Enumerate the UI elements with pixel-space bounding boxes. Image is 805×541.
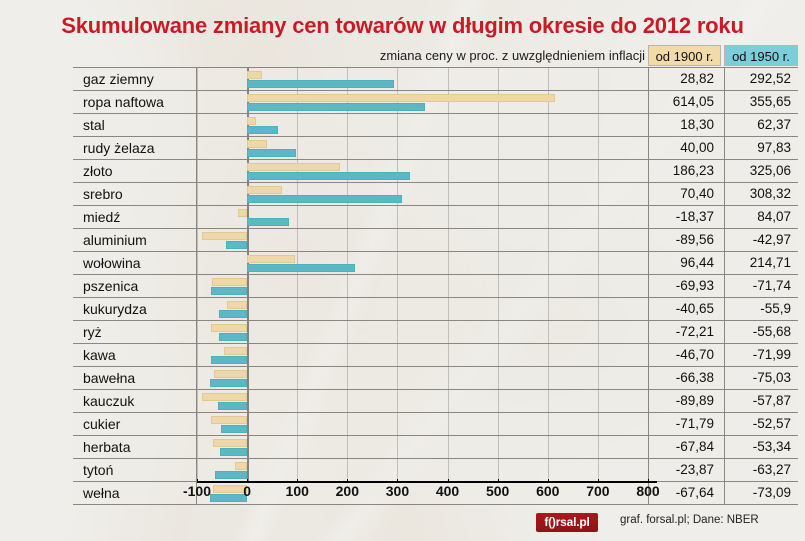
value-1950: 292,52: [724, 68, 798, 91]
value-1900: -66,38: [648, 367, 721, 390]
x-axis-ticks: -1000100200300400500600700800: [0, 483, 805, 505]
bar-1950: [210, 379, 248, 387]
bar-1900: [247, 140, 267, 148]
bar-1900: [211, 324, 247, 332]
row-plot-area: [197, 206, 648, 229]
row-plot-area: [197, 344, 648, 367]
value-1950: -55,68: [724, 321, 798, 344]
table-row: kukurydza-40,65-55,9: [73, 298, 798, 321]
value-1950: -42,97: [724, 229, 798, 252]
value-1950: -71,99: [724, 344, 798, 367]
bar-1950: [247, 172, 410, 180]
chart-root: Skumulowane zmiany cen towarów w długim …: [0, 0, 805, 541]
bar-1900: [202, 393, 247, 401]
bar-1950: [226, 241, 248, 249]
commodity-label: kawa: [73, 344, 197, 367]
bar-1950: [215, 471, 247, 479]
bar-1900: [247, 117, 256, 125]
commodity-label: tytoń: [73, 459, 197, 482]
table-row: srebro70,40308,32: [73, 183, 798, 206]
bar-1900: [247, 255, 295, 263]
value-1950: -57,87: [724, 390, 798, 413]
commodity-label: ryż: [73, 321, 197, 344]
bar-1950: [247, 218, 289, 226]
commodity-label: aluminium: [73, 229, 197, 252]
bar-1950: [211, 287, 247, 295]
value-1900: 28,82: [648, 68, 721, 91]
commodity-label: ropa naftowa: [73, 91, 197, 114]
commodity-label: stal: [73, 114, 197, 137]
table-row: tytoń-23,87-63,27: [73, 459, 798, 482]
bar-1900: [213, 439, 247, 447]
value-1950: 62,37: [724, 114, 798, 137]
value-1900: 186,23: [648, 160, 721, 183]
value-1950: 84,07: [724, 206, 798, 229]
row-plot-area: [197, 160, 648, 183]
table-row: ropa naftowa614,05355,65: [73, 91, 798, 114]
value-1900: 614,05: [648, 91, 721, 114]
value-1950: 355,65: [724, 91, 798, 114]
column-header-1900: od 1900 r.: [648, 45, 721, 66]
chart-title: Skumulowane zmiany cen towarów w długim …: [0, 13, 805, 39]
bar-1900: [247, 94, 555, 102]
value-1950: -63,27: [724, 459, 798, 482]
table-row: ryż-72,21-55,68: [73, 321, 798, 344]
bar-1950: [219, 310, 247, 318]
value-1900: 40,00: [648, 137, 721, 160]
table-row: pszenica-69,93-71,74: [73, 275, 798, 298]
chart-subtitle: zmiana ceny w proc. z uwzględnieniem inf…: [330, 48, 645, 63]
value-1900: -89,56: [648, 229, 721, 252]
bar-1900: [224, 347, 247, 355]
value-1900: 96,44: [648, 252, 721, 275]
row-plot-area: [197, 413, 648, 436]
x-tick-mark: [448, 479, 449, 483]
row-plot-area: [197, 114, 648, 137]
bar-1950: [247, 149, 296, 157]
bar-1900: [212, 278, 247, 286]
commodity-label: miedź: [73, 206, 197, 229]
x-tick-mark: [347, 479, 348, 483]
table-row: stal18,3062,37: [73, 114, 798, 137]
row-plot-area: [197, 229, 648, 252]
bar-1900: [202, 232, 247, 240]
table-row: gaz ziemny28,82292,52: [73, 68, 798, 91]
bar-1950: [221, 425, 247, 433]
bar-1950: [211, 356, 247, 364]
table-row: aluminium-89,56-42,97: [73, 229, 798, 252]
bar-1900: [247, 163, 340, 171]
value-1950: 214,71: [724, 252, 798, 275]
forsal-logo: f()rsal.pl: [536, 513, 598, 532]
value-1950: 97,83: [724, 137, 798, 160]
bar-1900: [247, 186, 282, 194]
value-1950: -55,9: [724, 298, 798, 321]
x-tick-mark: [247, 479, 248, 483]
value-1900: -89,89: [648, 390, 721, 413]
row-plot-area: [197, 298, 648, 321]
row-plot-area: [197, 91, 648, 114]
commodity-label: cukier: [73, 413, 197, 436]
value-1900: 70,40: [648, 183, 721, 206]
bar-1950: [219, 333, 247, 341]
bar-1950: [247, 103, 425, 111]
table-row: kauczuk-89,89-57,87: [73, 390, 798, 413]
bar-1900: [235, 462, 247, 470]
table-row: rudy żelaza40,0097,83: [73, 137, 798, 160]
bar-1950: [247, 80, 394, 88]
bar-1900: [211, 416, 247, 424]
row-plot-area: [197, 252, 648, 275]
table-row: wołowina96,44214,71: [73, 252, 798, 275]
table-row: kawa-46,70-71,99: [73, 344, 798, 367]
commodity-label: srebro: [73, 183, 197, 206]
bar-1950: [220, 448, 247, 456]
row-plot-area: [197, 68, 648, 91]
row-plot-area: [197, 275, 648, 298]
commodity-label: złoto: [73, 160, 197, 183]
row-plot-area: [197, 183, 648, 206]
row-plot-area: [197, 390, 648, 413]
row-plot-area: [197, 367, 648, 390]
bar-1950: [247, 126, 278, 134]
value-1950: 325,06: [724, 160, 798, 183]
value-1950: -52,57: [724, 413, 798, 436]
x-tick-mark: [648, 479, 649, 483]
table-row: bawełna-66,38-75,03: [73, 367, 798, 390]
table-row: miedź-18,3784,07: [73, 206, 798, 229]
bar-1900: [214, 370, 247, 378]
bar-1900: [247, 71, 261, 79]
table-row: złoto186,23325,06: [73, 160, 798, 183]
value-1950: -53,34: [724, 436, 798, 459]
table-row: herbata-67,84-53,34: [73, 436, 798, 459]
value-1950: -71,74: [724, 275, 798, 298]
value-1900: -67,84: [648, 436, 721, 459]
chart-grid: gaz ziemny28,82292,52ropa naftowa614,053…: [73, 67, 798, 481]
value-1900: 18,30: [648, 114, 721, 137]
commodity-label: rudy żelaza: [73, 137, 197, 160]
column-header-1950: od 1950 r.: [724, 45, 798, 66]
chart-credit: graf. forsal.pl; Dane: NBER: [620, 514, 759, 526]
bar-1950: [247, 264, 355, 272]
commodity-label: pszenica: [73, 275, 197, 298]
value-1900: -18,37: [648, 206, 721, 229]
value-1900: -72,21: [648, 321, 721, 344]
value-1900: -40,65: [648, 298, 721, 321]
value-1900: -23,87: [648, 459, 721, 482]
commodity-label: wołowina: [73, 252, 197, 275]
value-1950: -75,03: [724, 367, 798, 390]
bar-1900: [227, 301, 247, 309]
commodity-label: herbata: [73, 436, 197, 459]
commodity-label: bawełna: [73, 367, 197, 390]
value-1900: -46,70: [648, 344, 721, 367]
value-1950: 308,32: [724, 183, 798, 206]
row-plot-area: [197, 321, 648, 344]
commodity-label: kukurydza: [73, 298, 197, 321]
x-tick-label: 800: [618, 483, 678, 499]
x-tick-mark: [498, 479, 499, 483]
row-plot-area: [197, 459, 648, 482]
x-tick-mark: [548, 479, 549, 483]
x-tick-mark: [197, 479, 198, 483]
bar-1950: [247, 195, 402, 203]
x-tick-mark: [598, 479, 599, 483]
x-tick-mark: [297, 479, 298, 483]
value-1900: -71,79: [648, 413, 721, 436]
row-plot-area: [197, 436, 648, 459]
row-plot-area: [197, 137, 648, 160]
table-row: cukier-71,79-52,57: [73, 413, 798, 436]
value-1900: -69,93: [648, 275, 721, 298]
x-tick-mark: [397, 479, 398, 483]
commodity-label: kauczuk: [73, 390, 197, 413]
commodity-label: gaz ziemny: [73, 68, 197, 91]
bar-1950: [218, 402, 247, 410]
bar-1900: [238, 209, 247, 217]
